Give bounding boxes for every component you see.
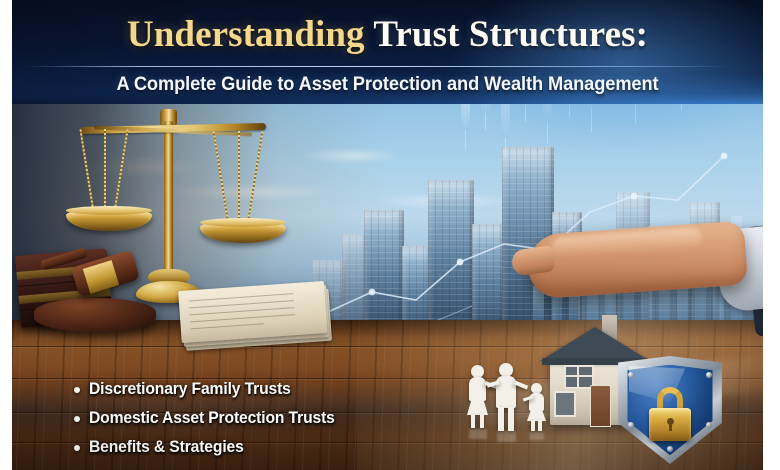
header-divider xyxy=(26,66,730,67)
page-title: Understanding Trust Structures: xyxy=(12,16,763,53)
paper-family-cutouts-icon xyxy=(467,363,563,435)
bullet-label: Benefits & Strategies xyxy=(89,438,244,457)
bullet-list: Discretionary Family Trusts Domestic Ass… xyxy=(74,375,404,462)
list-item: Domestic Asset Protection Trusts xyxy=(74,404,404,433)
shield-padlock-icon xyxy=(616,356,724,464)
right-letterbox-border xyxy=(763,0,780,470)
bullet-dot-icon xyxy=(74,445,80,451)
protective-hand-icon xyxy=(482,222,763,342)
list-item: Benefits & Strategies xyxy=(74,433,404,462)
left-letterbox-border xyxy=(0,0,12,470)
trust-structures-poster: Discretionary Family Trusts Domestic Ass… xyxy=(0,0,780,470)
title-white-part: Trust Structures: xyxy=(365,14,648,55)
page-subtitle: A Complete Guide to Asset Protection and… xyxy=(27,74,748,96)
bullet-dot-icon xyxy=(74,416,80,422)
header-band: Understanding Trust Structures: A Comple… xyxy=(12,0,763,104)
bullet-dot-icon xyxy=(74,387,80,393)
document-stack-icon xyxy=(178,281,328,349)
bullet-label: Domestic Asset Protection Trusts xyxy=(89,409,335,428)
gavel-sound-block xyxy=(34,298,156,332)
list-item: Discretionary Family Trusts xyxy=(74,375,404,404)
poster-artwork: Discretionary Family Trusts Domestic Ass… xyxy=(12,0,763,470)
title-gold-part: Understanding xyxy=(127,14,365,55)
bullet-label: Discretionary Family Trusts xyxy=(89,380,291,399)
